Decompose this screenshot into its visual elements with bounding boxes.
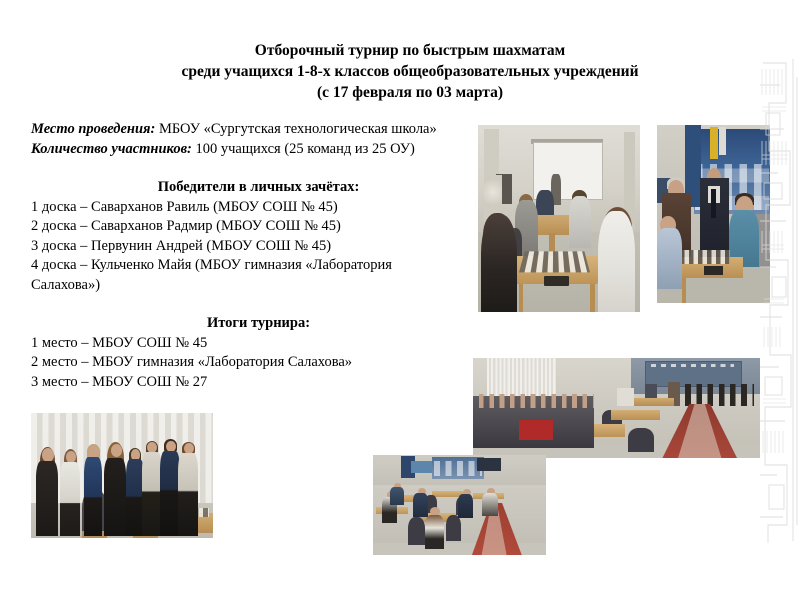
team-result-row: 1 место – МБОУ СОШ № 45 [31, 334, 486, 354]
chair [446, 515, 462, 541]
chess-clock [544, 276, 568, 285]
individual-winner-row: 1 доска – Саварханов Равиль (МБОУ СОШ № … [31, 198, 486, 218]
chess-board [519, 252, 590, 274]
team-result-row: 3 место – МБОУ СОШ № 27 [31, 373, 486, 393]
podium [617, 388, 634, 406]
flag-yellow [710, 127, 718, 159]
participants-value: 100 учащихся (25 команд из 25 ОУ) [196, 141, 415, 157]
photo-adults-watching [657, 125, 770, 303]
title-line-3: (с 17 февраля по 03 марта) [150, 82, 670, 103]
player-foreground-left [481, 215, 517, 312]
photo-hall-tables [478, 125, 640, 312]
chair [628, 428, 654, 452]
photo-hall-audience [473, 358, 760, 458]
photo-playing-hall [373, 455, 546, 555]
red-garment [519, 420, 553, 440]
slide-canvas: Отборочный турнир по быстрым шахматам ср… [0, 0, 800, 600]
title-line-2: среди учащихся 1-8-х классов общеобразов… [150, 61, 670, 82]
chess-table-mid [611, 410, 660, 420]
individual-winners-heading: Победители в личных зачётах: [31, 178, 486, 198]
venue-value: МБОУ «Сургутская технологическая школа» [159, 121, 437, 137]
chair [408, 517, 425, 545]
student [142, 452, 162, 536]
participants-row: Количество участников: 100 учащихся (25 … [31, 140, 486, 160]
student-head [42, 448, 54, 462]
page-title: Отборочный турнир по быстрым шахматам ср… [150, 40, 670, 103]
wall-monitor [477, 458, 501, 471]
chess-clock [704, 266, 722, 275]
chess-board [680, 250, 731, 264]
student-head [111, 444, 122, 457]
title-line-1: Отборочный турнир по быстрым шахматам [150, 40, 670, 61]
student [178, 453, 198, 536]
plant [484, 175, 502, 209]
venue-row: Место проведения: МБОУ «Сургутская техно… [31, 120, 486, 140]
student [160, 451, 180, 536]
necktie [711, 189, 716, 217]
audience-heads [479, 394, 594, 408]
student [104, 458, 126, 536]
table-leg [590, 284, 595, 312]
child-foreground [657, 228, 682, 289]
team-result-row: 2 место – МБОУ гимназия «Лаборатория Сал… [31, 353, 486, 373]
student [84, 457, 102, 536]
venue-label: Место проведения: [31, 121, 155, 137]
student [60, 462, 80, 536]
screen-text-lines [651, 364, 734, 367]
table-leg [519, 284, 524, 312]
participants-label: Количество участников: [31, 141, 192, 157]
chess-table-far [634, 398, 674, 406]
flag-white [719, 127, 726, 155]
player [482, 493, 498, 516]
individual-winner-row: 3 доска – Первунин Андрей (МБОУ СОШ № 45… [31, 237, 486, 257]
table-leg [682, 278, 687, 303]
player-foreground [425, 515, 444, 549]
individual-winner-row: 4 доска – Кульченко Майя (МБОУ гимназия … [31, 256, 486, 276]
body-text-column: Место проведения: МБОУ «Сургутская техно… [31, 120, 486, 392]
individual-winner-row-cont: Салахова») [31, 276, 486, 296]
photo-students-standing [31, 413, 213, 538]
player [390, 487, 404, 505]
seated-child-right [569, 196, 592, 248]
wall-screen [411, 461, 432, 473]
player-foreground-right [598, 211, 635, 312]
student [36, 461, 58, 536]
stand-posters [434, 461, 482, 476]
results-heading: Итоги турнира: [31, 314, 486, 334]
giant-chess-pieces [674, 384, 754, 406]
player [413, 493, 429, 517]
player [458, 494, 474, 518]
individual-winner-row: 2 доска – Саварханов Радмир (МБОУ СОШ № … [31, 217, 486, 237]
